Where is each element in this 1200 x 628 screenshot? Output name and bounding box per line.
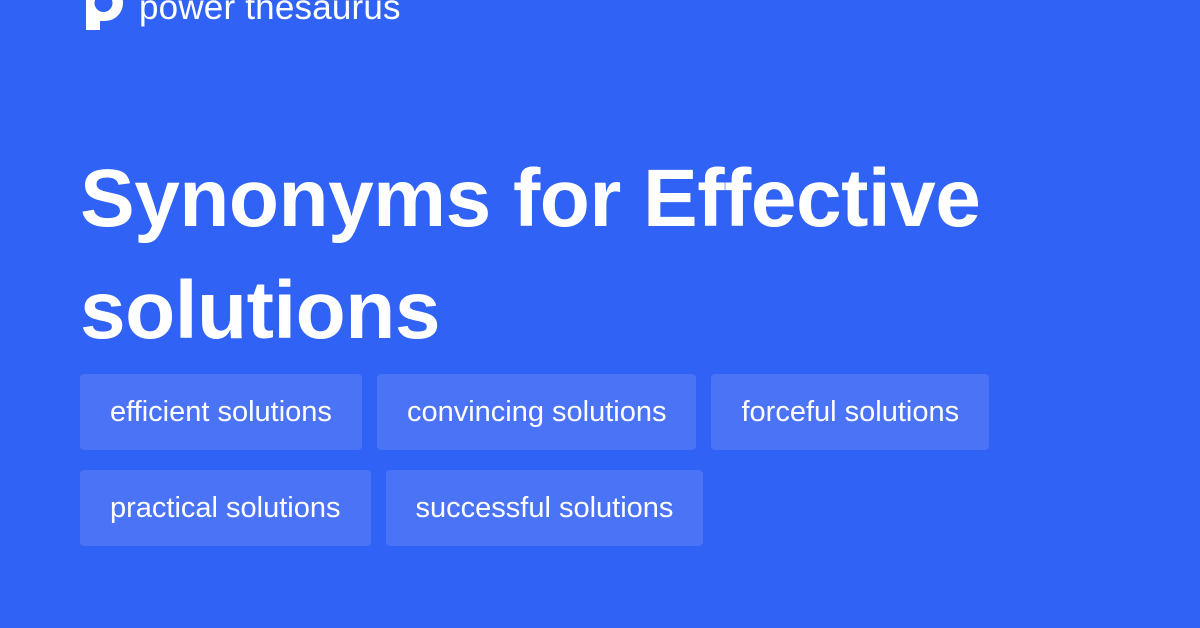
power-thesaurus-p-logo-icon xyxy=(78,0,123,30)
synonym-chip[interactable]: successful solutions xyxy=(386,470,704,546)
page-title-line-1: Synonyms for Effective xyxy=(80,143,1120,255)
synonym-chip-list: efficient solutions convincing solutions… xyxy=(80,374,1140,546)
synonym-chip[interactable]: efficient solutions xyxy=(80,374,362,450)
synonym-chip[interactable]: convincing solutions xyxy=(377,374,697,450)
page-title: Synonyms for Effective solutions xyxy=(80,143,1120,367)
synonym-chip[interactable]: practical solutions xyxy=(80,470,371,546)
synonym-chip[interactable]: forceful solutions xyxy=(711,374,989,450)
brand-name-label: power thesaurus xyxy=(139,0,401,30)
synonym-share-card: power thesaurus Synonyms for Effective s… xyxy=(0,0,1200,628)
brand-logo[interactable]: power thesaurus xyxy=(78,0,401,30)
page-title-line-2: solutions xyxy=(80,255,1120,367)
